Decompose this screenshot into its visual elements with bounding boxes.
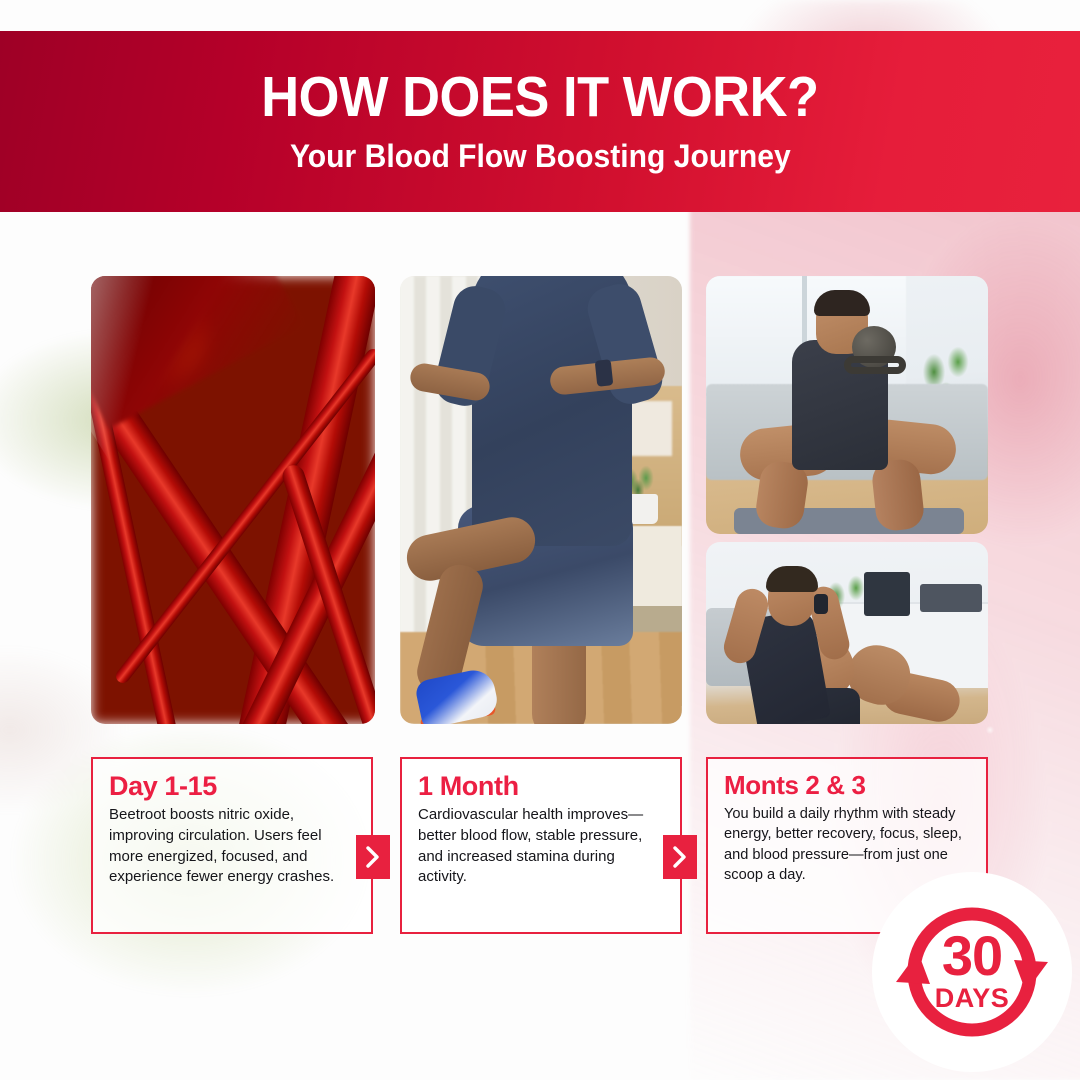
header-banner: HOW DOES IT WORK? Your Blood Flow Boosti…	[0, 31, 1080, 212]
step-card-1-month[interactable]: 1 Month Cardiovascular health improves—b…	[400, 757, 682, 934]
chevron-right-icon	[663, 835, 697, 879]
hair	[814, 290, 870, 316]
step-card-day-1-15[interactable]: Day 1-15 Beetroot boosts nitric oxide, i…	[91, 757, 373, 934]
badge-30-days: 30 DAYS	[872, 872, 1072, 1072]
step-title: 1 Month	[418, 772, 664, 800]
page-title: HOW DOES IT WORK?	[261, 69, 818, 126]
badge-number: 30	[942, 930, 1002, 982]
hair	[766, 566, 818, 592]
image-man-high-knees-exercise	[400, 276, 682, 724]
step-title: Day 1-15	[109, 772, 355, 800]
image-man-situps-core-workout	[706, 542, 988, 724]
chevron-right-icon	[356, 835, 390, 879]
step-description: Cardiovascular health improves—better bl…	[418, 805, 664, 888]
media-panels-row	[0, 276, 1080, 726]
step-description: You build a daily rhythm with steady ene…	[724, 804, 970, 885]
step-title: Monts 2 & 3	[724, 772, 970, 799]
page-subtitle: Your Blood Flow Boosting Journey	[290, 138, 791, 175]
wrist-watch	[595, 359, 614, 387]
picture-frame	[864, 572, 910, 616]
image-blood-vessels-microscopy	[91, 276, 375, 724]
kettlebell-handle	[844, 356, 906, 374]
storage-box	[920, 584, 982, 612]
badge-label: 30 DAYS	[888, 888, 1056, 1056]
image-man-kettlebell-goblet-squat	[706, 276, 988, 534]
badge-unit: DAYS	[935, 983, 1010, 1014]
step-description: Beetroot boosts nitric oxide, improving …	[109, 805, 355, 888]
wrist-watch	[814, 594, 828, 614]
